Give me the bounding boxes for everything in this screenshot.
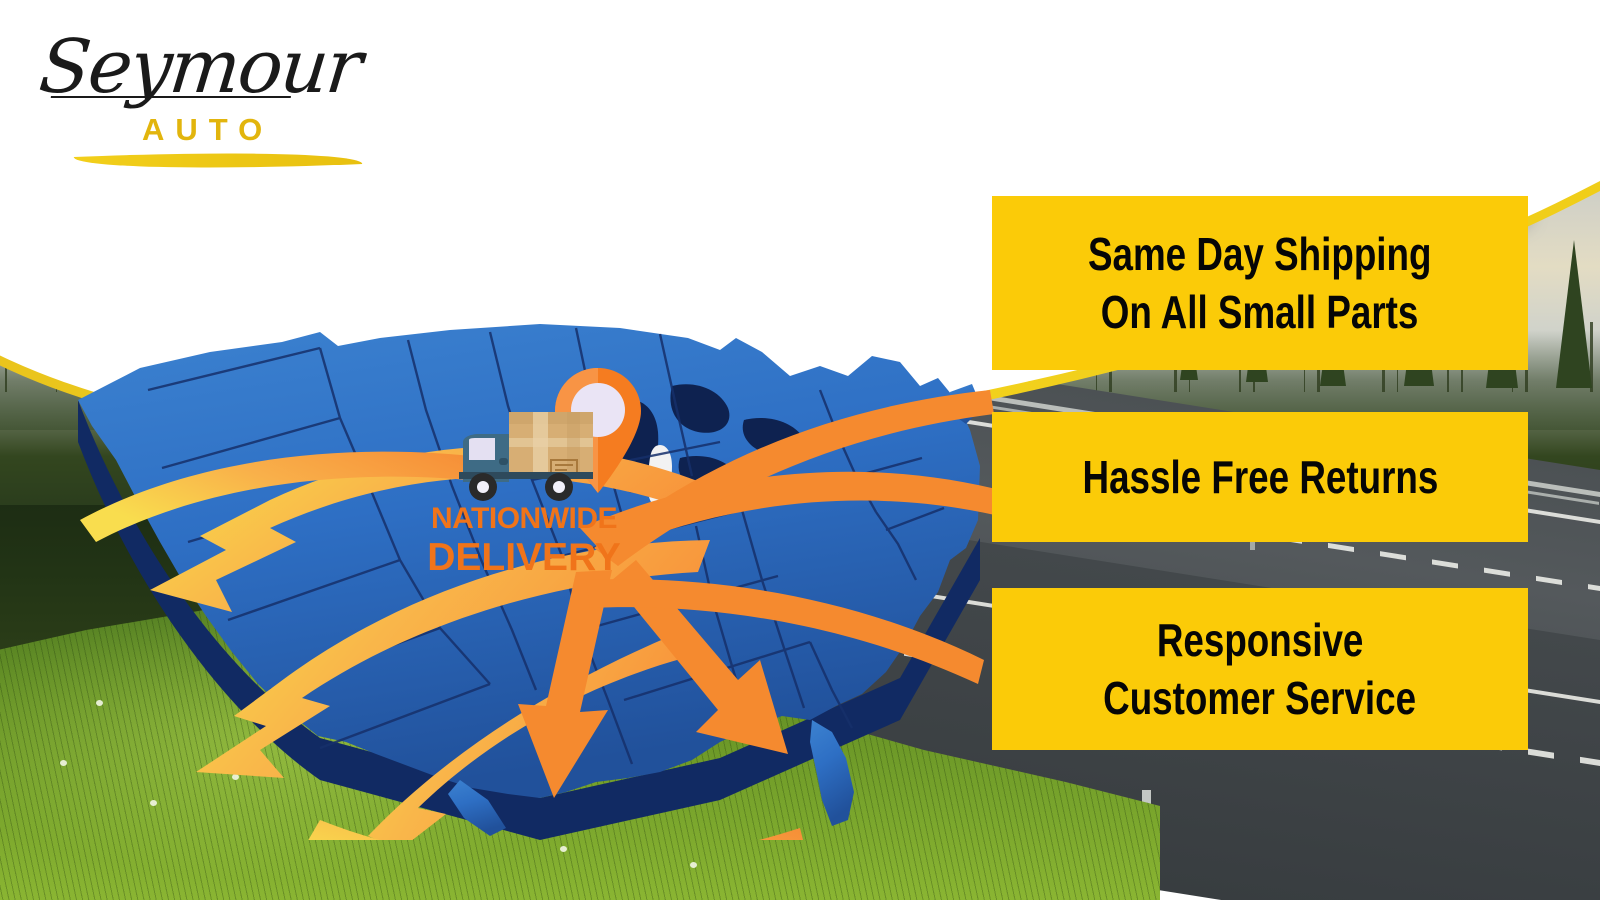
callout-line: Responsive	[1157, 617, 1364, 663]
callout-line: Hassle Free Returns	[1082, 454, 1438, 500]
callout-same-day-shipping: Same Day Shipping On All Small Parts	[992, 196, 1528, 370]
caption-line-1: NATIONWIDE	[418, 504, 630, 534]
grass-flower	[560, 846, 567, 852]
callout-line: On All Small Parts	[1101, 289, 1419, 335]
callout-responsive-customer-service: Responsive Customer Service	[992, 588, 1528, 750]
pine-tree	[1556, 240, 1592, 388]
nationwide-delivery-caption: NATIONWIDE DELIVERY	[418, 504, 630, 577]
caption-line-2: DELIVERY	[418, 538, 630, 577]
callout-hassle-free-returns: Hassle Free Returns	[992, 412, 1528, 542]
callout-line: Customer Service	[1104, 675, 1417, 721]
logo-wordmark: Seymour	[35, 24, 364, 110]
logo[interactable]: Seymour AUTO	[34, 18, 364, 163]
promo-banner: Seymour AUTO	[0, 0, 1600, 900]
grass-flower	[690, 862, 697, 868]
delivery-truck-icon	[455, 398, 595, 503]
logo-subtitle: AUTO	[142, 112, 273, 148]
callout-line: Same Day Shipping	[1088, 231, 1432, 277]
